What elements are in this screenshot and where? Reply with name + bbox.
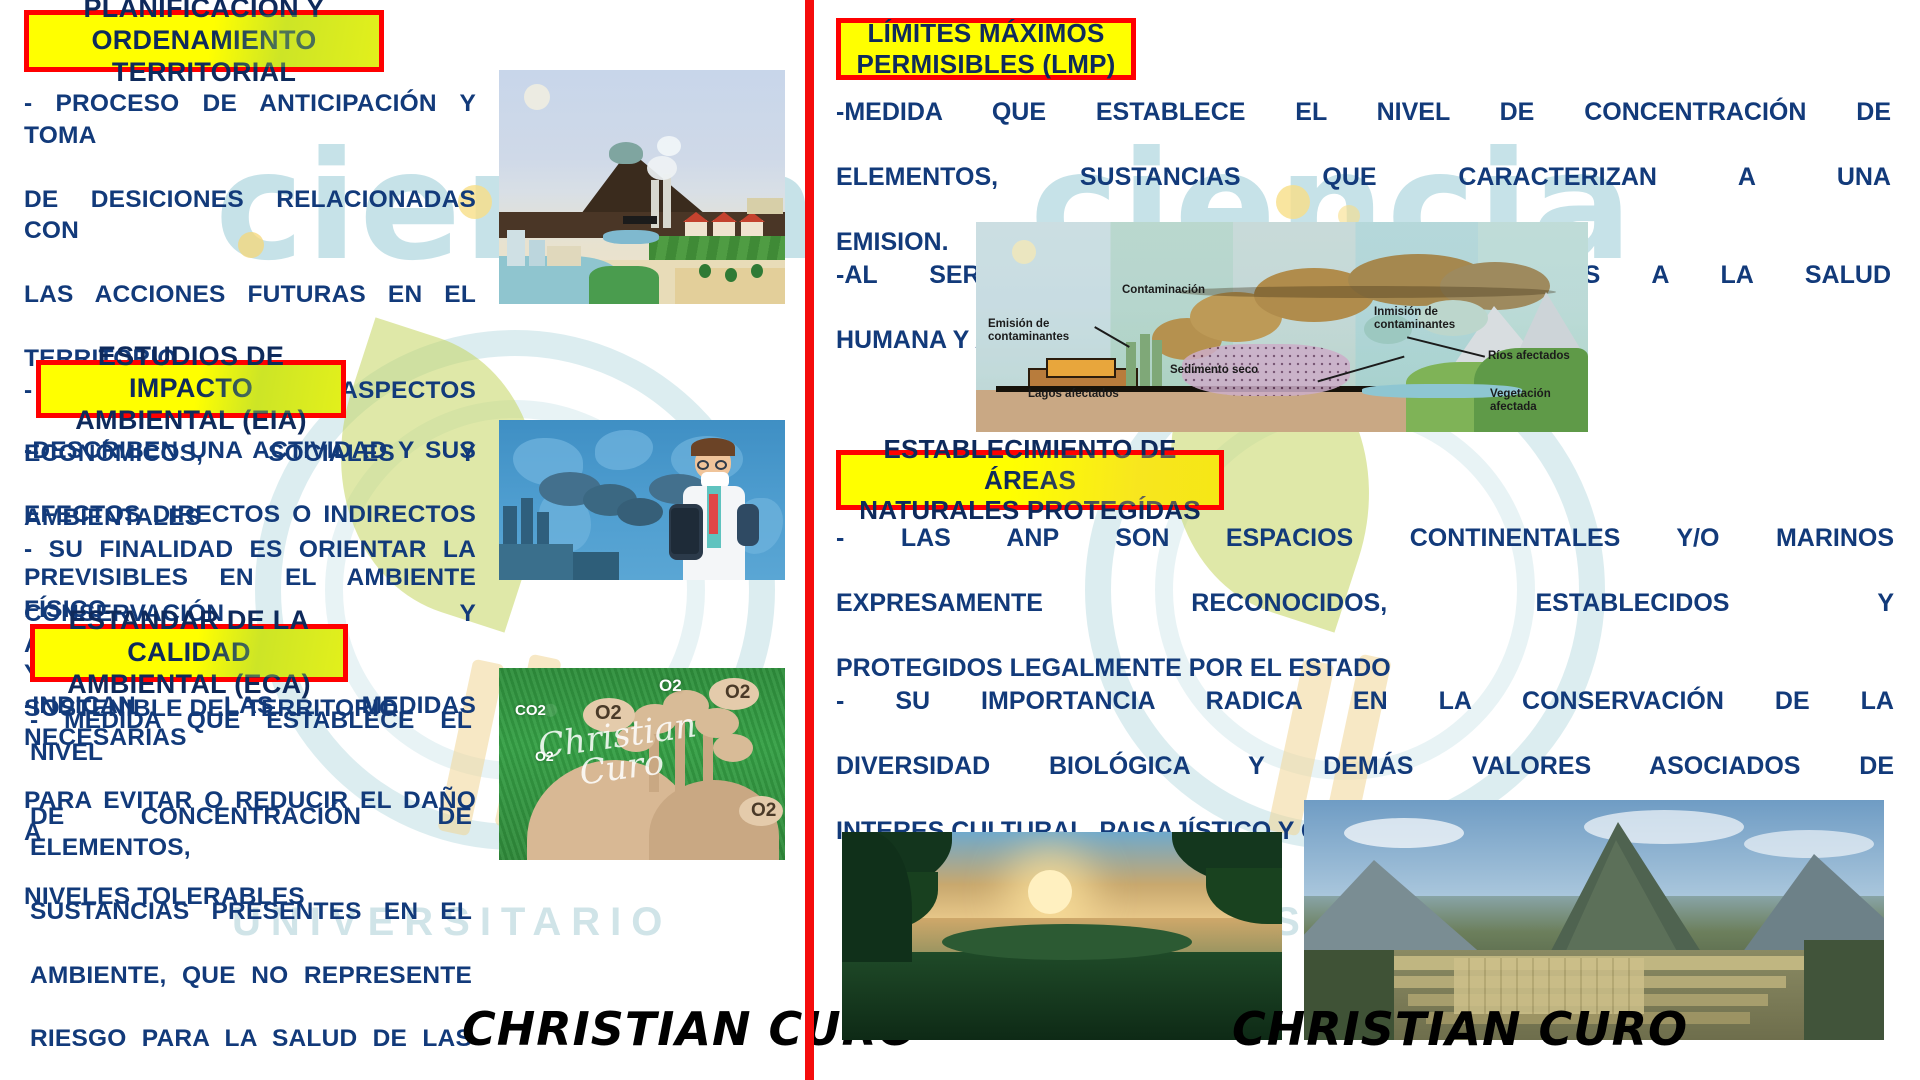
heading-anp: ESTABLECIMIENTO DE ÁREAS NATURALES PROTE… [836,450,1224,510]
body-line: -DESCRIBEN UNA ACTIVIDAD Y SUS [24,435,476,499]
pollution-diagram: Emisión de contaminantes Contaminación I… [976,222,1588,432]
body-line: LAS ACCIONES FUTURAS EN EL [24,279,476,343]
heading-line: NATURALES PROTEGÍDAS [841,495,1219,526]
heading-lmp: LÍMITES MÁXIMOS PERMISIBLES (LMP) [836,18,1136,80]
o2-label: O2 [659,676,682,696]
diagram-label-sedimento: Sedimento seco [1170,364,1258,377]
body-line: -MEDIDA QUE ESTABLECE EL NIVEL DE CONCEN… [836,96,1891,161]
body-line: - MEDIDA QUE ESTABLECE EL NIVEL [30,705,472,801]
body-line: DE DESICIONES RELACIONADAS CON [24,184,476,280]
right-column: LÍMITES MÁXIMOS PERMISIBLES (LMP) -MEDID… [814,0,1920,1080]
heading-planificacion: PLANIFICACIÓN Y ORDENAMIENTO TERRITORIAL [24,10,384,72]
heading-eca: ESTANDAR DE LA CALIDAD AMBIENTAL (ECA) [30,624,348,682]
heading-line: PERMISIBLES (LMP) [856,49,1115,80]
heading-line: AMBIENTAL (ECA) [35,669,343,701]
diagram-label-contaminacion: Contaminación [1122,284,1205,297]
body-line: ELEMENTOS, SUSTANCIAS QUE CARACTERIZAN A… [836,161,1891,226]
heading-line: PLANIFICACIÓN Y [29,0,379,25]
infographic-page: ciencia ciencia UNIVERSITARIO UNIVERSITA… [0,0,1920,1080]
signature-right: CHRISTIAN CURO [1232,1002,1688,1056]
heading-line: LÍMITES MÁXIMOS [856,18,1115,49]
heading-line: ESTABLECIMIENTO DE ÁREAS [841,434,1219,495]
body-line: EXPRESAMENTE RECONOCIDOS, ESTABLECIDOS Y [836,587,1894,652]
diagram-label-inmision: Inmisión de contaminantes [1374,306,1455,332]
diagram-label-lagos: Lagos afectados [1028,388,1119,401]
environmental-impact-illustration [499,420,785,580]
body-line: EFECTOS DIRECTOS O INDIRECTOS [24,499,476,563]
body-line: AMBIENTE, QUE NO REPRESENTE [30,960,472,1024]
jungle-sunset-photo [842,832,1282,1040]
o2-label: O2 [725,682,750,704]
body-line: SUSTANCIAS PRESENTES EN EL [30,896,472,960]
body-line: - LAS ANP SON ESPACIOS CONTINENTALES Y/O… [836,522,1894,587]
heading-line: ESTANDAR DE LA CALIDAD [35,605,343,669]
body-line: RIESGO PARA LA SALUD DE LAS [30,1023,472,1080]
heading-line: AMBIENTAL (EIA) [41,405,341,437]
heading-line: ESTUDIOS DE IMPACTO [41,341,341,405]
column-divider [805,0,814,1080]
diagram-label-emision: Emisión de contaminantes [988,318,1069,344]
body-anp: - LAS ANP SON ESPACIOS CONTINENTALES Y/O… [836,522,1894,847]
o2-label: O2 [751,800,776,822]
heading-line: ORDENAMIENTO TERRITORIAL [29,25,379,89]
diagram-label-rios: Ríos afectados [1488,350,1570,363]
territorial-planning-illustration [499,70,785,304]
heading-eia: ESTUDIOS DE IMPACTO AMBIENTAL (EIA) [36,360,346,418]
diagram-label-vegetacion: Vegetación afectada [1490,388,1551,414]
body-line: PROTEGIDOS LEGALMENTE POR EL ESTADO [836,652,1894,685]
body-eca: - MEDIDA QUE ESTABLECE EL NIVEL DE CONCE… [30,705,472,1080]
body-line: DE CONCENTRACIÓN DE ELEMENTOS, [30,801,472,897]
left-column: PLANIFICACIÓN Y ORDENAMIENTO TERRITORIAL… [0,0,805,1080]
o2-label: CO2 [515,702,546,719]
body-line: - PROCESO DE ANTICIPACIÓN Y TOMA [24,88,476,184]
body-line: - SU IMPORTANCIA RADICA EN LA CONSERVACI… [836,685,1894,750]
